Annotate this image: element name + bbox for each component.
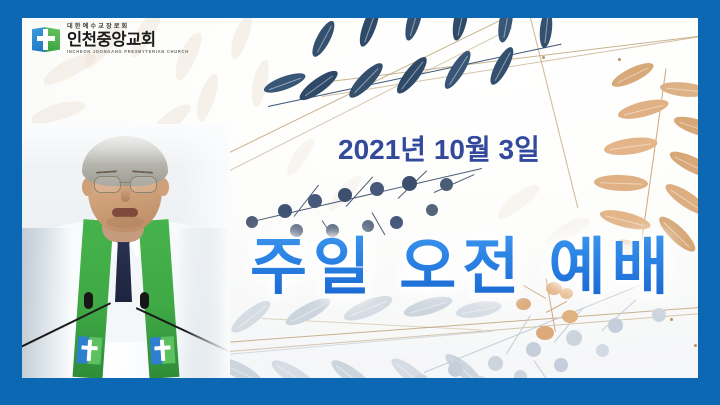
nose [121, 188, 130, 202]
service-date: 2021년 10월 3일 [338, 128, 540, 168]
church-logo: 대한예수교장로회 인천중앙교회 INCHEON JOONGANG PRESBYT… [32, 24, 189, 54]
eyeglasses-bridge [119, 182, 130, 183]
microphone-head-right [140, 292, 149, 309]
logo-church-name-english: INCHEON JOONGANG PRESBYTERIAN CHURCH [67, 50, 189, 54]
eyeglasses-lens-left [94, 176, 121, 193]
logo-denomination: 대한예수교장로회 [67, 24, 189, 30]
chin-shadow [106, 216, 144, 228]
preacher-video-insert [22, 124, 230, 378]
navy-olive-branch [258, 32, 578, 142]
video-edge-fade-top [22, 124, 230, 164]
logo-church-name: 인천중앙교회 [67, 32, 189, 49]
microphone-head-left [84, 292, 93, 309]
content-card: 대한예수교장로회 인천중앙교회 INCHEON JOONGANG PRESBYT… [22, 18, 698, 378]
stole-church-emblem-icon [76, 336, 102, 365]
stole-church-emblem-icon [150, 336, 176, 365]
robe-shadow-left [22, 228, 72, 378]
broadcast-overlay-screen: 대한예수교장로회 인천중앙교회 INCHEON JOONGANG PRESBYT… [0, 0, 720, 405]
service-title: 주일 오전 예배 [250, 216, 675, 306]
logo-text-group: 대한예수교장로회 인천중앙교회 INCHEON JOONGANG PRESBYT… [67, 24, 189, 54]
eyeglasses-lens-right [130, 176, 157, 193]
cross-book-icon [32, 25, 60, 53]
